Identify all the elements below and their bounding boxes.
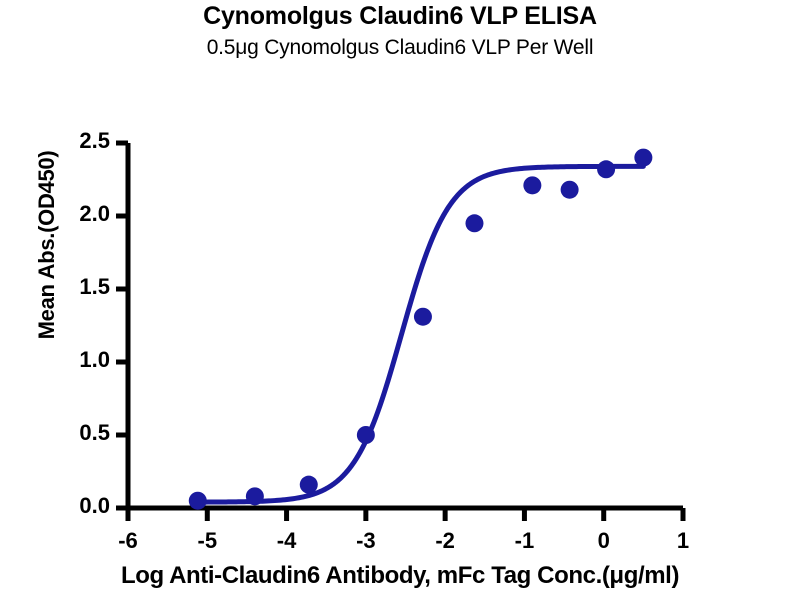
data-points xyxy=(189,149,653,510)
data-point xyxy=(561,181,579,199)
chart-figure: Cynomolgus Claudin6 VLP ELISA 0.5μg Cyno… xyxy=(0,0,800,600)
x-tick-label: -4 xyxy=(267,528,307,554)
axes xyxy=(116,143,683,521)
data-point xyxy=(414,308,432,326)
data-point xyxy=(465,214,483,232)
x-tick-label: -6 xyxy=(108,528,148,554)
data-point xyxy=(357,426,375,444)
x-tick-label: 1 xyxy=(663,528,703,554)
y-tick-label: 2.5 xyxy=(50,128,110,154)
y-tick-label: 1.0 xyxy=(50,347,110,373)
x-tick-label: -3 xyxy=(346,528,386,554)
data-point xyxy=(300,476,318,494)
data-point xyxy=(523,176,541,194)
y-tick-label: 0.0 xyxy=(50,493,110,519)
y-tick-label: 2.0 xyxy=(50,201,110,227)
data-point xyxy=(597,160,615,178)
fit-curve xyxy=(198,166,644,502)
y-tick-label: 1.5 xyxy=(50,274,110,300)
x-tick-label: -2 xyxy=(425,528,465,554)
data-point xyxy=(634,149,652,167)
data-point xyxy=(246,487,264,505)
x-tick-label: -1 xyxy=(504,528,544,554)
data-point xyxy=(189,492,207,510)
x-tick-label: -5 xyxy=(187,528,227,554)
x-tick-label: 0 xyxy=(584,528,624,554)
plot-area xyxy=(0,0,800,600)
y-tick-label: 0.5 xyxy=(50,420,110,446)
